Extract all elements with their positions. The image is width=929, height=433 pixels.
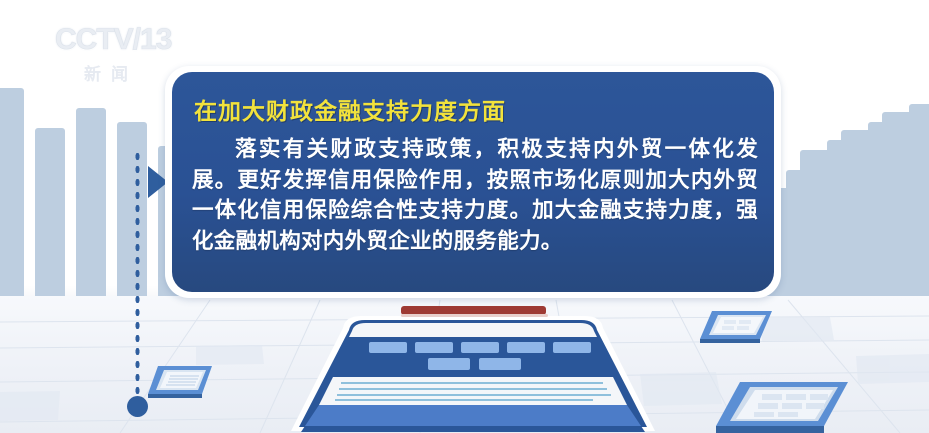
- channel-name-label: 新闻: [55, 60, 167, 85]
- isometric-card-top-right: [690, 305, 780, 349]
- isometric-card-bottom-right: [700, 378, 860, 433]
- callout-card: 在加大财政金融支持力度方面 落实有关财政支持政策，积极支持内外贸一体化发展。更好…: [172, 72, 774, 292]
- cctv-logo: CCTV/13 新闻: [55, 22, 167, 84]
- bar-R5: [800, 150, 830, 300]
- document-podium-illustration: [283, 304, 663, 433]
- isometric-card-left: [140, 360, 220, 402]
- callout-title: 在加大财政金融支持力度方面: [194, 92, 506, 126]
- news-broadcast-frame: CCTV/13 新闻 在加大财政金融支持力度方面 落实有关财政支持政策，积极支持…: [0, 0, 929, 433]
- bar-R7: [882, 112, 912, 300]
- bar-R6: [841, 130, 871, 300]
- cctv-number: 13: [140, 23, 171, 56]
- callout-body-text: 落实有关财政支持政策，积极支持内外贸一体化发展。更好发挥信用保险作用，按照市场化…: [192, 134, 758, 256]
- cctv-wordmark: CCTV/13: [55, 22, 167, 58]
- cctv-slash: /: [133, 23, 140, 56]
- cctv-letters: CCTV: [55, 23, 133, 56]
